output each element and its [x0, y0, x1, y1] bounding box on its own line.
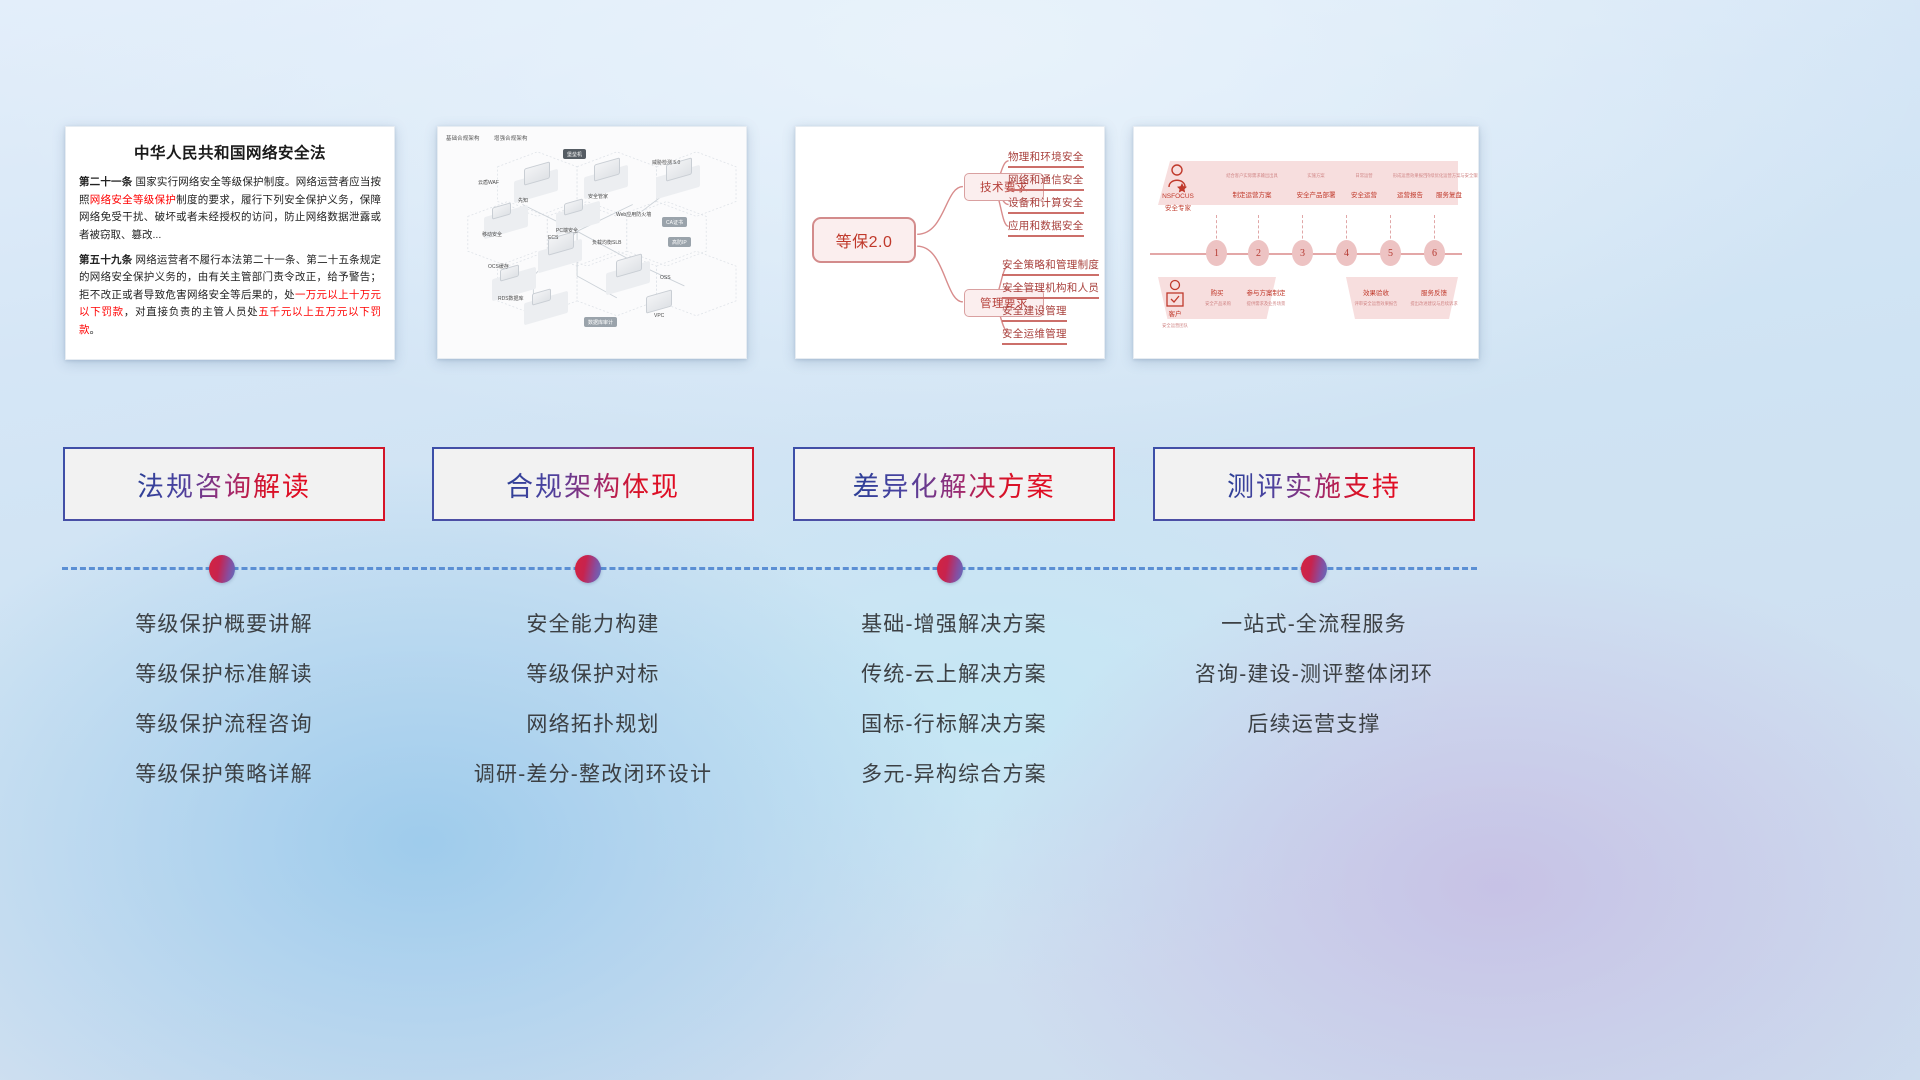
arch-label-ocs: OCS缓存 — [488, 263, 509, 270]
article-21-label: 第二十一条 — [79, 176, 132, 188]
customer-step-3-title: 服务反馈 — [1412, 287, 1456, 297]
timeline-step-3[interactable]: 3 — [1292, 240, 1313, 266]
architecture-diagram: 基础合规架构 增强合规架构 — [438, 127, 746, 358]
mindmap-leaf-network-comm: 网络和通信安全 — [1008, 172, 1084, 191]
list-item: 等级保护标准解读 — [63, 650, 385, 700]
step-2-title: 制定运营方案 — [1222, 189, 1282, 199]
card-cybersecurity-law[interactable]: 中华人民共和国网络安全法 第二十一条 国家实行网络安全等级保护制度。网络运营者应… — [65, 126, 395, 360]
detail-list-4: 一站式-全流程服务 咨询-建设-测评整体闭环 后续运营支撑 — [1153, 600, 1475, 750]
headline-box-compliance-architecture[interactable]: 合规架构体现 — [432, 447, 754, 521]
timeline-dashed-line — [62, 567, 1477, 570]
expert-person-icon — [1164, 163, 1190, 193]
step-6-title: 服务复盘 — [1426, 189, 1472, 199]
step-3-sub: 实施方案 — [1286, 173, 1346, 179]
customer-role-sub: 安全运营团队 — [1150, 323, 1200, 329]
nsfocus-customer-band-right — [1346, 277, 1458, 319]
process-timeline — [0, 545, 1920, 605]
arch-chip-ddos: 高防IP — [668, 237, 691, 247]
step-4-title: 安全运营 — [1338, 189, 1390, 199]
detail-list-2: 安全能力构建 等级保护对标 网络拓扑规划 调研-差分-整改闭环设计 — [432, 600, 754, 800]
mindmap-diagram: 等保2.0 技术要求 管理要求 物理和环境安全 网络和通信安全 设备和计算安全 … — [796, 127, 1104, 358]
timeline-step-5[interactable]: 5 — [1380, 240, 1401, 266]
headline-label-2: 合规架构体现 — [506, 465, 680, 504]
customer-step-2-sub: 评审安全运营效果报告 — [1348, 301, 1404, 307]
arch-badge-bastion: 堡垒机 — [563, 149, 586, 159]
detail-list-3: 基础-增强解决方案 传统-云上解决方案 国标-行标解决方案 多元-异构综合方案 — [793, 600, 1115, 800]
arch-label-vpc: VPC — [654, 313, 664, 319]
headline-label-3: 差异化解决方案 — [853, 465, 1056, 504]
list-item: 传统-云上解决方案 — [793, 650, 1115, 700]
timeline-node-1[interactable] — [209, 555, 235, 583]
article-59-label: 第五十九条 — [79, 254, 132, 266]
list-item: 调研-差分-整改闭环设计 — [432, 750, 754, 800]
arch-chip-db-audit: 数据库审计 — [584, 317, 617, 327]
list-item: 网络拓扑规划 — [432, 700, 754, 750]
headline-box-differentiated-solution[interactable]: 差异化解决方案 — [793, 447, 1115, 521]
customer-step-3-sub: 提出改进建议与后续诉求 — [1406, 301, 1462, 307]
step-3-title: 安全产品部署 — [1286, 189, 1346, 199]
timeline-node-2[interactable] — [575, 555, 601, 583]
headline-box-regulation-consulting[interactable]: 法规咨询解读 — [63, 447, 385, 521]
law-article-59: 第五十九条 网络运营者不履行本法第二十一条、第二十五条规定的网络安全保护义务的，… — [79, 252, 381, 340]
customer-step-2-title: 效果验收 — [1354, 287, 1398, 297]
article-59-text-b: ，对直接负责的主管人员处 — [124, 306, 259, 318]
expert-brand-label: NSFOCUS — [1154, 193, 1202, 201]
article-21-highlight: 网络安全等级保护 — [90, 194, 176, 206]
arch-label-web-waf: Web应用防火墙 — [616, 211, 651, 218]
timeline-node-4[interactable] — [1301, 555, 1327, 583]
arch-label-oss: OSS — [660, 275, 671, 281]
mindmap-leaf-construction: 安全建设管理 — [1002, 303, 1067, 322]
mindmap-root: 等保2.0 — [812, 217, 916, 263]
list-item: 等级保护概要讲解 — [63, 600, 385, 650]
timeline-step-2[interactable]: 2 — [1248, 240, 1269, 266]
list-item: 安全能力构建 — [432, 600, 754, 650]
list-item: 基础-增强解决方案 — [793, 600, 1115, 650]
mindmap-leaf-org-personnel: 安全管理机构和人员 — [1002, 280, 1099, 299]
headline-label-1: 法规咨询解读 — [137, 465, 311, 504]
law-document: 中华人民共和国网络安全法 第二十一条 国家实行网络安全等级保护制度。网络运营者应… — [66, 127, 394, 355]
arch-label-slb: 负载均衡SLB — [592, 239, 621, 246]
mindmap-leaf-operations: 安全运维管理 — [1002, 326, 1067, 345]
arch-label-threat: 威胁检测 5.0 — [652, 159, 680, 166]
list-item: 等级保护策略详解 — [63, 750, 385, 800]
mindmap-leaf-app-data: 应用和数据安全 — [1008, 218, 1084, 237]
timeline-step-6[interactable]: 6 — [1424, 240, 1445, 266]
list-item: 后续运营支撑 — [1153, 700, 1475, 750]
mindmap-leaf-device-compute: 设备和计算安全 — [1008, 195, 1084, 214]
law-title: 中华人民共和国网络安全法 — [79, 141, 381, 163]
thumbnail-card-row: 中华人民共和国网络安全法 第二十一条 国家实行网络安全等级保护制度。网络运营者应… — [0, 126, 1920, 362]
timeline-step-1[interactable]: 1 — [1206, 240, 1227, 266]
list-item: 国标-行标解决方案 — [793, 700, 1115, 750]
detail-list-1: 等级保护概要讲解 等级保护标准解读 等级保护流程咨询 等级保护策略详解 — [63, 600, 385, 800]
arch-label-ecs: ECS — [548, 235, 558, 241]
arch-label-mobile: 移动安全 — [482, 231, 502, 238]
list-item: 等级保护对标 — [432, 650, 754, 700]
headline-label-4: 测评实施支持 — [1227, 465, 1401, 504]
timeline-step-4[interactable]: 4 — [1336, 240, 1357, 266]
arch-chip-ca: CA证书 — [662, 217, 687, 227]
list-item: 等级保护流程咨询 — [63, 700, 385, 750]
article-59-text-c: 。 — [90, 324, 101, 336]
step-1-title: 购买 — [1200, 287, 1234, 297]
law-article-21: 第二十一条 国家实行网络安全等级保护制度。网络运营者应当按照网络安全等级保护制度… — [79, 174, 381, 245]
card-compliance-architecture[interactable]: 基础合规架构 增强合规架构 — [437, 126, 747, 359]
list-item: 咨询-建设-测评整体闭环 — [1153, 650, 1475, 700]
step-2-sub: 结合客户实际需求输出出具 — [1222, 173, 1282, 179]
customer-step-1-title: 参与方案制定 — [1238, 287, 1294, 297]
nsfocus-timeline-diagram: NSFOCUS 安全专家 客户 安全运营团队 1 2 3 4 5 6 结合客户实… — [1134, 127, 1478, 358]
list-item: 一站式-全流程服务 — [1153, 600, 1475, 650]
card-mindmap-dengbao[interactable]: 等保2.0 技术要求 管理要求 物理和环境安全 网络和通信安全 设备和计算安全 … — [795, 126, 1105, 359]
headline-row: 法规咨询解读 合规架构体现 差异化解决方案 测评实施支持 — [0, 447, 1920, 521]
step-6-sub: 持续优化运营方案与安全策略 — [1426, 173, 1472, 179]
list-item: 多元-异构综合方案 — [793, 750, 1115, 800]
arch-label-waf: 云盾WAF — [478, 179, 499, 186]
mindmap-leaf-policy-system: 安全策略和管理制度 — [1002, 257, 1099, 276]
customer-role-label: 客户 — [1150, 311, 1200, 319]
headline-box-assessment-support[interactable]: 测评实施支持 — [1153, 447, 1475, 521]
timeline-node-3[interactable] — [937, 555, 963, 583]
step-4-sub: 日常运营 — [1338, 173, 1390, 179]
arch-label-rds: RDS数据库 — [498, 295, 524, 302]
arch-label-xianzhi: 先知 — [518, 197, 528, 204]
expert-role-label: 安全专家 — [1154, 205, 1202, 213]
arch-label-guanjia: 安全管家 — [588, 193, 608, 200]
mindmap-leaf-physical-env: 物理和环境安全 — [1008, 149, 1084, 168]
customer-person-icon — [1164, 279, 1186, 309]
customer-step-1-sub: 提供需求及业务场景 — [1234, 301, 1298, 307]
card-nsfocus-service-timeline[interactable]: NSFOCUS 安全专家 客户 安全运营团队 1 2 3 4 5 6 结合客户实… — [1133, 126, 1479, 359]
